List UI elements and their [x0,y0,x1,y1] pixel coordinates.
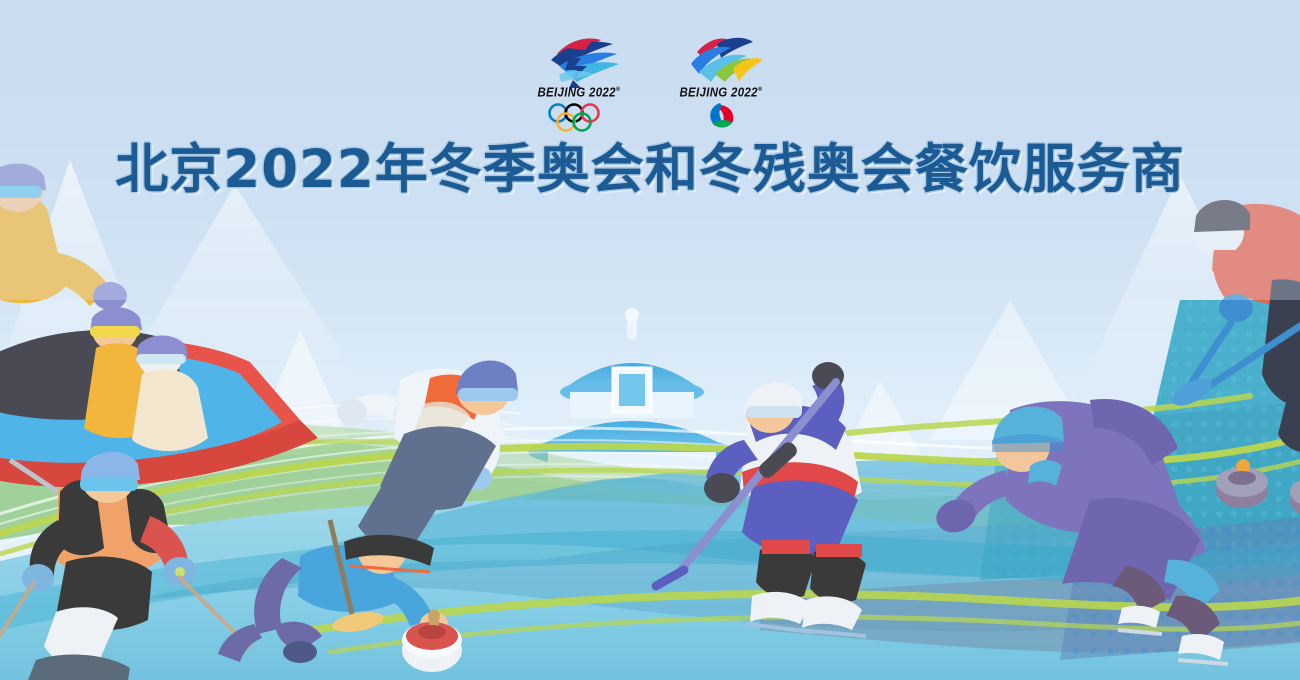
olympic-emblem: BEIJING 2022® [529,30,629,135]
olympic-rings-icon [546,102,612,132]
olympic-emblem-wordmark: BEIJING 2022® [529,86,629,99]
emblems-row: BEIJING 2022® [0,30,1300,140]
page-title: 北京2022年冬季奥会和冬残奥会餐饮服务商 [0,140,1300,201]
paralympic-emblem-wordmark: BEIJING 2022® [671,86,771,99]
paralympic-emblem: BEIJING 2022® [671,30,771,135]
agitos-icon [688,102,754,132]
olympic-emblem-mark [529,30,629,90]
beijing-2022-catering-services-banner: BEIJING 2022® [0,0,1300,680]
paralympic-emblem-mark [671,30,771,90]
